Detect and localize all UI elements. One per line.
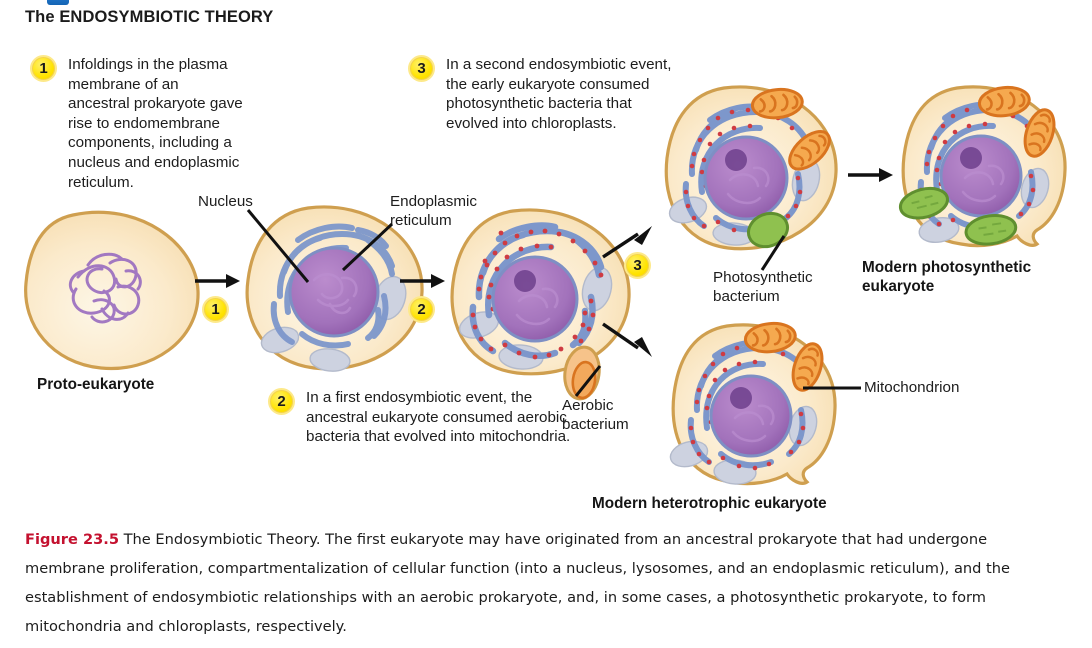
figure-title: The ENDOSYMBIOTIC THEORY — [25, 8, 273, 27]
label-mitochondrion: Mitochondrion — [864, 378, 959, 397]
step-badge-1-number: 1 — [30, 55, 57, 82]
step-3-text: In a second endosymbiotic event, the ear… — [446, 55, 676, 133]
label-aerobic-bacterium: Aerobic bacterium — [562, 396, 662, 434]
label-modern-photo-line1: Modern photosynthetic — [862, 259, 1031, 276]
nucleus — [941, 136, 1021, 216]
cell-proto-eukaryote — [18, 205, 218, 380]
arrow-badge-1-number: 1 — [202, 296, 229, 323]
label-modern-photosynthetic-eukaryote: Modern photosynthetic eukaryote — [862, 258, 1082, 296]
nucleolus — [725, 149, 747, 171]
step-1-text: Infoldings in the plasma membrane of an … — [68, 55, 243, 192]
cell-eukaryote-with-photosynthetic-bacterium — [658, 82, 848, 267]
nucleus — [711, 376, 791, 456]
leader-photosynthetic-bacterium — [760, 234, 790, 272]
leader-aerobic-bacterium — [574, 364, 604, 398]
label-photosynthetic-line2: bacterium — [713, 288, 780, 305]
nucleolus — [514, 270, 536, 292]
nucleolus — [730, 387, 752, 409]
arrow-step-1 — [193, 272, 241, 290]
arrow-badge-2-number: 2 — [408, 296, 435, 323]
arrow-step-2 — [398, 272, 446, 290]
decorative-blue-mark — [47, 0, 69, 5]
label-nucleus: Nucleus — [198, 192, 253, 211]
figure-caption: Figure 23.5 The Endosymbiotic Theory. Th… — [25, 525, 1070, 641]
arrow-branch-down — [600, 320, 656, 360]
label-modern-photo-line2: eukaryote — [862, 278, 934, 295]
arrow-to-modern-photosynthetic — [846, 166, 894, 184]
step-badge-2: 2 — [268, 388, 308, 415]
step-badge-3: 3 — [408, 55, 448, 82]
step-2-text: In a first endosymbiotic event, the ance… — [306, 388, 571, 447]
nucleolus — [960, 147, 982, 169]
label-photosynthetic-bacterium: Photosynthetic bacterium — [713, 268, 833, 306]
leader-nucleus — [246, 208, 316, 286]
arrow-badge-3-number: 3 — [624, 252, 651, 279]
label-aerobic-line1: Aerobic — [562, 397, 614, 414]
cell-modern-heterotrophic-eukaryote — [665, 320, 845, 498]
leader-mitochondrion — [803, 385, 863, 391]
leader-endoplasmic-reticulum — [340, 222, 396, 274]
arrow-badge-2: 2 — [408, 296, 435, 323]
arrow-badge-1: 1 — [202, 296, 229, 323]
label-modern-heterotrophic-eukaryote: Modern heterotrophic eukaryote — [592, 494, 827, 513]
step-badge-3-number: 3 — [408, 55, 435, 82]
step-badge-1: 1 — [30, 55, 70, 82]
nucleus — [493, 257, 577, 341]
caption-figure-number: Figure 23.5 — [25, 531, 119, 548]
step-badge-2-number: 2 — [268, 388, 295, 415]
caption-body: The Endosymbiotic Theory. The first euka… — [25, 531, 1010, 635]
nucleus — [705, 137, 787, 219]
cell-modern-photosynthetic-eukaryote — [895, 82, 1075, 260]
label-aerobic-line2: bacterium — [562, 416, 629, 433]
arrow-badge-3: 3 — [624, 252, 651, 279]
label-proto-eukaryote: Proto-eukaryote — [37, 375, 154, 394]
